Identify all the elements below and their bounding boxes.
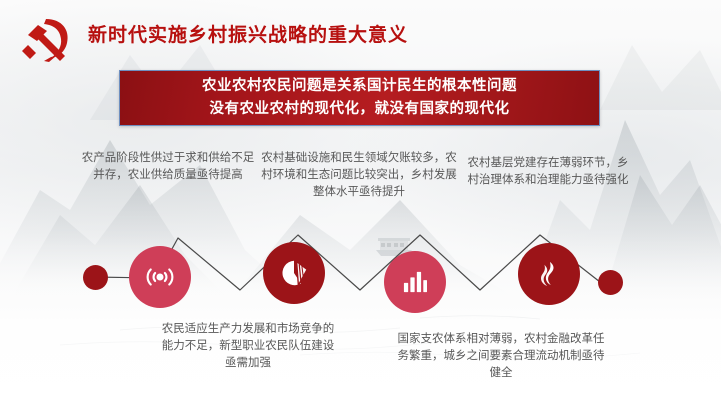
double-arrow-icon bbox=[536, 260, 562, 288]
hammer-and-sickle-icon bbox=[16, 13, 78, 63]
caption-top-1: 农产品阶段性供过于求和供给不足并存，农业供给质量亟待提高 bbox=[78, 150, 258, 184]
broadcast-signal-icon bbox=[145, 265, 175, 289]
caption-top-2: 农村基础设施和民生领域欠账较多，农村环境和生态问题比较突出，乡村发展整体水平亟待… bbox=[258, 150, 460, 201]
bar-chart-icon bbox=[402, 270, 428, 294]
slide-header: 新时代实施乡村振兴战略的重大意义 bbox=[0, 0, 721, 62]
node-3-bar-chart[interactable] bbox=[384, 251, 446, 313]
caption-bottom-1: 农民适应生产力发展和市场竞争的能力不足，新型职业农民队伍建设亟需加强 bbox=[160, 321, 336, 372]
banner-line-1: 农业农村农民问题是关系国计民生的根本性问题 bbox=[202, 75, 517, 98]
node-1-broadcast[interactable] bbox=[129, 246, 191, 308]
node-4-double-arrow[interactable] bbox=[518, 243, 580, 305]
start-dot bbox=[83, 265, 108, 290]
caption-bottom-2: 国家支农体系相对薄弱，农村金融改革任务繁重，城乡之间要素合理流动机制亟待健全 bbox=[392, 331, 610, 382]
node-2-pie-chart[interactable] bbox=[263, 242, 325, 304]
banner-line-2: 没有农业农村的现代化，就没有国家的现代化 bbox=[210, 98, 510, 121]
slide-canvas: 新时代实施乡村振兴战略的重大意义 农业农村农民问题是关系国计民生的根本性问题 没… bbox=[0, 0, 721, 405]
quote-banner: 农业农村农民问题是关系国计民生的根本性问题 没有农业农村的现代化，就没有国家的现… bbox=[119, 70, 600, 126]
caption-top-3: 农村基层党建存在薄弱环节，乡村治理体系和治理能力亟待强化 bbox=[462, 155, 634, 189]
pie-chart-icon bbox=[280, 259, 308, 287]
page-title: 新时代实施乡村振兴战略的重大意义 bbox=[88, 20, 408, 47]
end-dot bbox=[598, 270, 623, 295]
